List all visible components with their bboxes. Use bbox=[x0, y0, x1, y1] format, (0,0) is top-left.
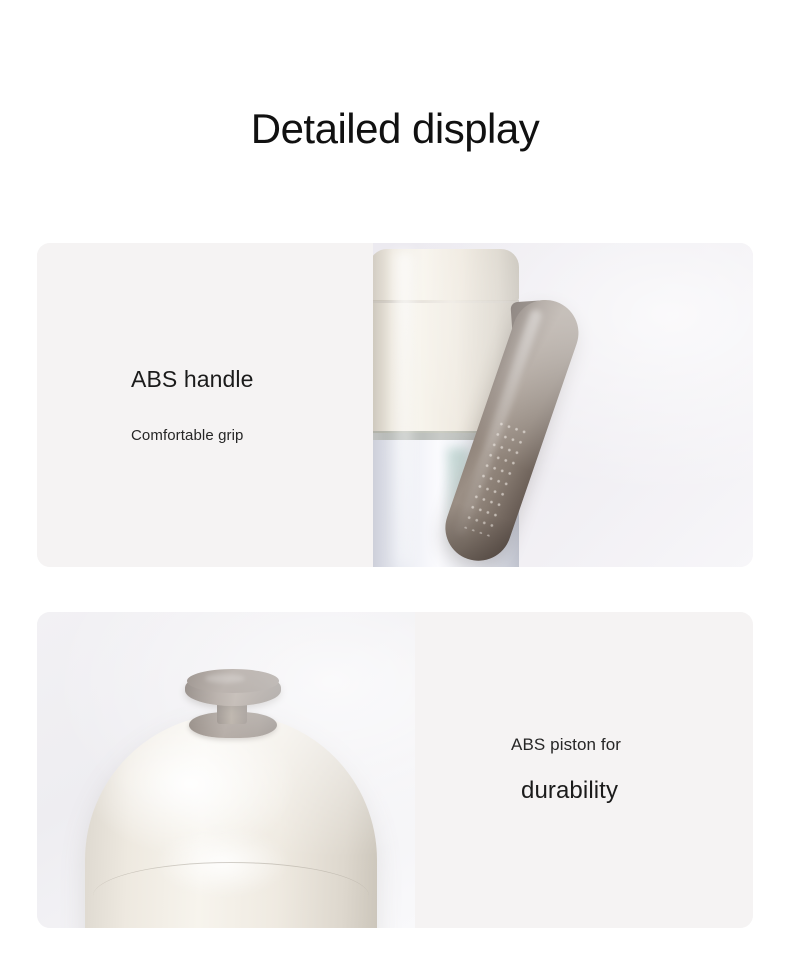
feature-card-abs-piston[interactable]: ABS piston for durability bbox=[37, 612, 753, 928]
feature-heading: ABS handle bbox=[131, 366, 373, 393]
feature-photo-piston-dome bbox=[37, 612, 415, 928]
piston-knob-highlight bbox=[205, 674, 245, 683]
product-detail-page: Detailed display ABS handle Comfortable … bbox=[0, 0, 790, 970]
feature-heading-large: durability bbox=[511, 777, 753, 805]
feature-subheading: Comfortable grip bbox=[131, 427, 373, 444]
feature-text-panel: ABS handle Comfortable grip bbox=[37, 243, 373, 567]
feature-heading-small: ABS piston for bbox=[511, 735, 753, 755]
text-spacer bbox=[511, 755, 753, 777]
page-title: Detailed display bbox=[0, 106, 790, 152]
bottle-highlight bbox=[395, 251, 413, 563]
feature-photo-pump-handle bbox=[373, 243, 753, 567]
text-spacer bbox=[131, 393, 373, 427]
feature-card-abs-handle[interactable]: ABS handle Comfortable grip bbox=[37, 243, 753, 567]
feature-text-panel: ABS piston for durability bbox=[415, 612, 753, 928]
